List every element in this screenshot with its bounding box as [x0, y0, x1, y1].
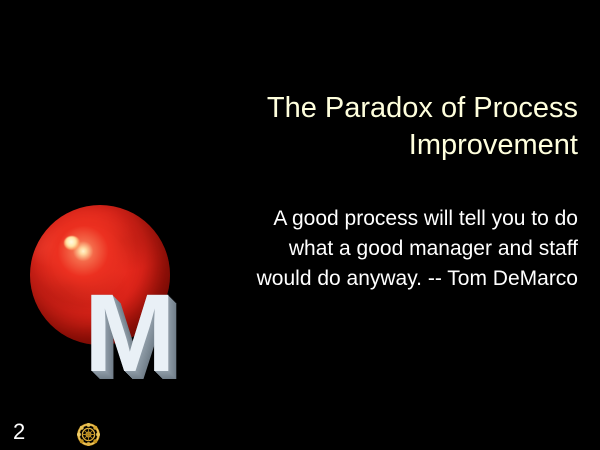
sphere-specular-highlight	[64, 236, 80, 250]
title-line-2: Improvement	[190, 127, 578, 164]
gold-filigree-ornament-icon	[77, 423, 100, 446]
logo-graphic: M M	[26, 200, 241, 395]
title-line-1: The Paradox of Process	[190, 90, 578, 127]
slide-title: The Paradox of Process Improvement	[190, 90, 578, 164]
page-number: 2	[13, 419, 25, 445]
m-letter-face: M	[84, 282, 172, 386]
presentation-slide: The Paradox of Process Improvement A goo…	[0, 0, 600, 450]
